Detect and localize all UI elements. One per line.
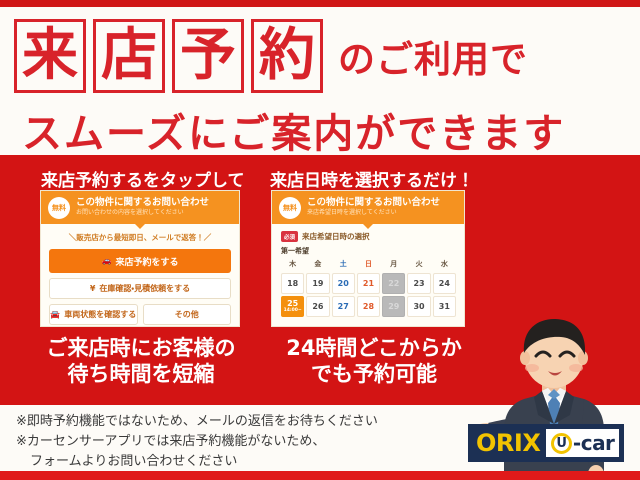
calendar-day-cell[interactable]: 28 <box>357 296 380 317</box>
top-accent-strip <box>0 0 640 7</box>
calendar-header-subtitle: 来店希望日時を選択してください <box>307 210 440 217</box>
headline-kanji-1: 来 <box>14 19 86 93</box>
headline-kanji-2: 店 <box>93 19 165 93</box>
calendar-day-number: 19 <box>312 280 323 288</box>
inquiry-form-header: 無料 この物件に関するお問い合わせ お問い合わせの内容を選択してください <box>41 191 239 224</box>
advertisement-poster: 来 店 予 約 のご利用で スムーズにご案内ができます 来店予約するをタップして… <box>0 0 640 480</box>
free-badge: 無料 <box>279 197 301 219</box>
calendar-day-cell: 22 <box>382 273 405 294</box>
calendar-day-number: 30 <box>413 303 424 311</box>
headline-section: 来 店 予 約 のご利用で スムーズにご案内ができます <box>0 7 640 155</box>
headline-line-1: 来 店 予 約 のご利用で <box>14 19 528 93</box>
calendar-day-cell: 29 <box>382 296 405 317</box>
headline-line-2: スムーズにご案内ができます <box>22 101 622 159</box>
calendar-weekday-header: 火 <box>407 258 430 271</box>
calendar-day-cell[interactable]: 27 <box>332 296 355 317</box>
calendar-header-title: この物件に関するお問い合わせ <box>307 198 440 209</box>
calendar-form-header: 無料 この物件に関するお問い合わせ 来店希望日時を選択してください <box>272 191 464 224</box>
disclaimer-line-3: フォームよりお問い合わせください <box>16 452 466 472</box>
calendar-day-cell[interactable]: 31 <box>433 296 456 317</box>
vehicle-condition-label: 車両状態を確認する <box>64 309 136 320</box>
calendar-day-number: 25 <box>287 300 298 308</box>
orix-ucar-logo: ORIX U -car <box>468 424 624 462</box>
calendar-day-cell[interactable]: 18 <box>281 273 304 294</box>
inquiry-header-subtitle: お問い合わせの内容を選択してください <box>76 210 209 217</box>
headline-tail-text: のご利用で <box>338 29 528 83</box>
car-icon: 🚗 <box>102 257 112 265</box>
calendar-weekday-header: 月 <box>382 258 405 271</box>
disclaimer-notes: ※即時予約機能ではないため、メールの返信をお待ちください ※カーセンサーアプリで… <box>16 412 466 472</box>
calendar-day-number: 31 <box>439 303 450 311</box>
calendar-section-label: 来店希望日時の選択 <box>302 231 370 242</box>
calendar-day-number: 24 <box>439 280 450 288</box>
free-badge: 無料 <box>48 197 70 219</box>
right-benefit-line-1: 24時間どこからか <box>266 335 482 361</box>
left-benefit-line-1: ご来店時にお客様の <box>18 335 264 361</box>
calendar-grid: 木金土日月火水181920212223242514:00~26272829303… <box>281 258 456 317</box>
calendar-weekday-header: 日 <box>357 258 380 271</box>
calendar-weekday-header: 木 <box>281 258 304 271</box>
calendar-day-cell[interactable]: 24 <box>433 273 456 294</box>
calendar-day-cell[interactable]: 30 <box>407 296 430 317</box>
inquiry-header-title: この物件に関するお問い合わせ <box>76 198 209 209</box>
calendar-day-cell[interactable]: 19 <box>306 273 329 294</box>
calendar-weekday-header: 金 <box>306 258 329 271</box>
reserve-visit-label: 来店予約をする <box>115 255 178 268</box>
orix-wordmark: ORIX <box>469 429 546 457</box>
other-label: その他 <box>175 309 199 320</box>
bottom-accent-strip <box>0 471 640 480</box>
calendar-day-number: 21 <box>363 280 374 288</box>
calendar-day-time: 14:00~ <box>284 309 302 314</box>
headline-kanji-3: 予 <box>172 19 244 93</box>
other-button[interactable]: その他 <box>143 304 232 325</box>
right-benefit-tagline: 24時間どこからか でも予約可能 <box>266 335 482 388</box>
stock-quote-button[interactable]: ¥ 在庫確認・見積依頼をする <box>49 278 231 299</box>
inquiry-form-mockup: 無料 この物件に関するお問い合わせ お問い合わせの内容を選択してください ＼販売… <box>40 190 240 327</box>
left-benefit-line-2: 待ち時間を短縮 <box>18 361 264 387</box>
calendar-day-number: 27 <box>338 303 349 311</box>
calendar-weekday-header: 土 <box>332 258 355 271</box>
calendar-day-cell[interactable]: 26 <box>306 296 329 317</box>
calendar-day-number: 22 <box>388 280 399 288</box>
calendar-day-cell[interactable]: 23 <box>407 273 430 294</box>
calendar-day-cell[interactable]: 20 <box>332 273 355 294</box>
calendar-day-cell[interactable]: 21 <box>357 273 380 294</box>
calendar-day-number: 26 <box>312 303 323 311</box>
calendar-day-number: 18 <box>287 280 298 288</box>
feature-band: 来店予約するをタップして 来店日時を選択するだけ！ 無料 この物件に関するお問い… <box>0 155 640 405</box>
right-benefit-line-2: でも予約可能 <box>266 361 482 387</box>
headline-kanji-4: 約 <box>251 19 323 93</box>
calendar-day-number: 20 <box>338 280 349 288</box>
calendar-mockup: 無料 この物件に関するお問い合わせ 来店希望日時を選択してください 必須 来店希… <box>271 190 465 327</box>
left-benefit-tagline: ご来店時にお客様の 待ち時間を短縮 <box>18 335 264 388</box>
calendar-day-number: 23 <box>413 280 424 288</box>
left-column-caption: 来店予約するをタップして <box>41 166 245 191</box>
stock-quote-label: 在庫確認・見積依頼をする <box>99 283 190 294</box>
ucar-wordmark: U -car <box>546 429 619 457</box>
reserve-visit-button[interactable]: 🚗 来店予約をする <box>49 249 231 273</box>
right-column-caption: 来店日時を選択するだけ！ <box>270 166 474 191</box>
disclaimer-line-1: ※即時予約機能ではないため、メールの返信をお待ちください <box>16 412 466 432</box>
calendar-day-number: 28 <box>363 303 374 311</box>
inquiry-lead-text: ＼販売店から最短即日、メールで返答！／ <box>49 232 231 243</box>
yen-icon: ¥ <box>90 285 96 293</box>
vehicle-condition-button[interactable]: 🚘 車両状態を確認する <box>49 304 138 325</box>
calendar-day-selected[interactable]: 2514:00~ <box>281 296 304 317</box>
u-circle-icon: U <box>551 433 572 454</box>
disclaimer-line-2: ※カーセンサーアプリでは来店予約機能がないため、 <box>16 432 466 452</box>
calendar-weekday-header: 水 <box>433 258 456 271</box>
car-wordmark: -car <box>573 431 615 455</box>
preference-label: 第一希望 <box>281 246 456 256</box>
required-badge: 必須 <box>281 231 298 242</box>
car-body-icon: 🚘 <box>50 311 60 319</box>
calendar-day-number: 29 <box>388 303 399 311</box>
